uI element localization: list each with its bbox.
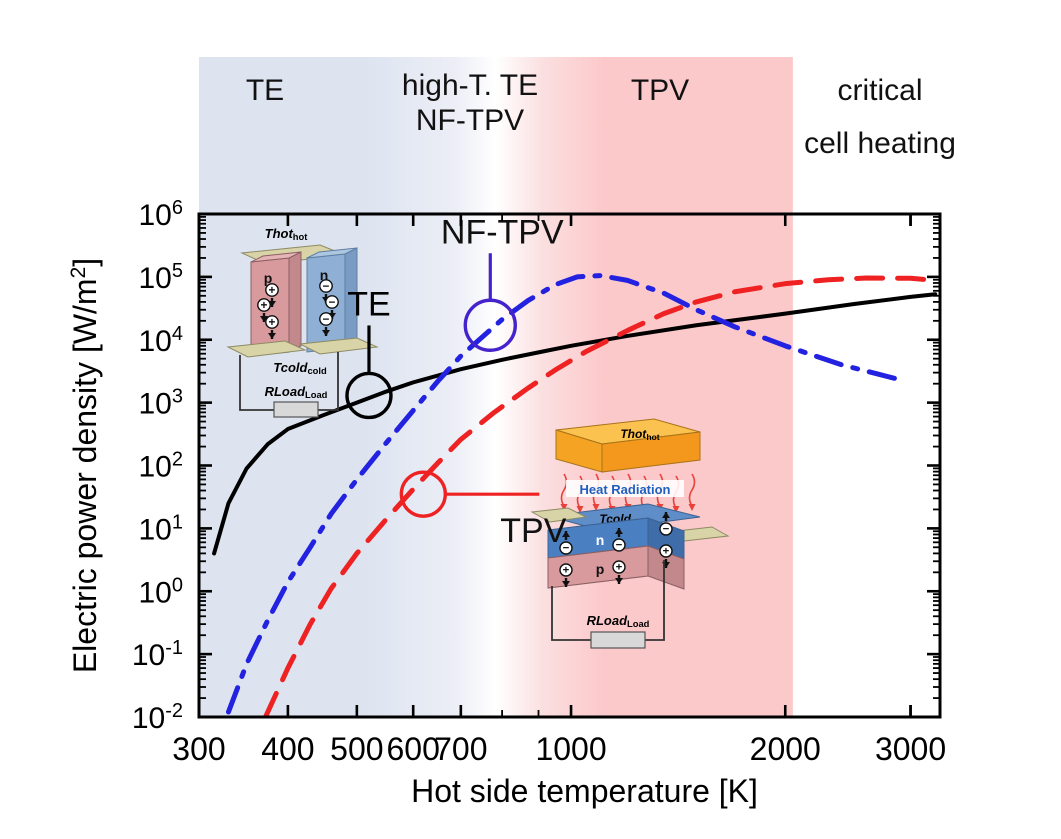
svg-text:+: + — [269, 283, 276, 297]
x-tick-label: 500 — [330, 731, 383, 767]
x-tick-label: 400 — [261, 731, 314, 767]
y-tick-label: 106 — [139, 197, 184, 232]
svg-text:p: p — [596, 561, 605, 577]
annotation-label-tpv: TPV — [500, 512, 566, 550]
svg-text:−: − — [616, 540, 623, 552]
svg-text:+: + — [663, 546, 670, 558]
y-tick-label: 10-1 — [132, 637, 183, 672]
x-tick-label: 2000 — [750, 731, 821, 767]
annotation-label-te: TE — [347, 285, 390, 323]
critical-region-label: cell heating — [804, 127, 956, 160]
svg-text:+: + — [261, 298, 268, 312]
x-axis-title: Hot side temperature [K] — [411, 773, 758, 809]
svg-text:−: − — [323, 279, 330, 293]
high-t-te-region-label: NF-TPV — [416, 104, 524, 137]
svg-text:+: + — [563, 565, 570, 577]
critical-region-label: critical — [837, 74, 922, 107]
figure-root: TEhigh-T. TENF-TPVTPVcriticalcell heatin… — [0, 0, 1061, 839]
high-t-te-region-label: high-T. TE — [402, 69, 538, 102]
y-tick-label: 10-2 — [132, 700, 183, 735]
y-tick-label: 104 — [139, 323, 184, 358]
svg-text:−: − — [323, 312, 330, 326]
svg-text:−: − — [663, 524, 670, 536]
y-axis-title: Electric power density [W/m2] — [67, 258, 104, 673]
y-tick-label: 102 — [139, 449, 184, 484]
tpv-region-label: TPV — [631, 74, 689, 107]
x-tick-label: 300 — [172, 731, 225, 767]
x-tick-label: 600 — [387, 731, 440, 767]
x-tick-label: 1000 — [535, 731, 606, 767]
svg-text:+: + — [269, 315, 276, 329]
x-tick-label: 3000 — [875, 731, 946, 767]
te-region-label: TE — [246, 74, 284, 107]
svg-text:−: − — [329, 295, 336, 309]
x-tick-label: 700 — [434, 731, 487, 767]
svg-text:Heat Radiation: Heat Radiation — [579, 482, 670, 497]
y-tick-label: 101 — [139, 511, 184, 546]
svg-text:n: n — [596, 532, 605, 548]
y-tick-label: 100 — [139, 574, 184, 609]
y-tick-label: 105 — [139, 260, 184, 295]
y-tick-label: 103 — [139, 386, 184, 421]
svg-text:+: + — [616, 562, 623, 574]
